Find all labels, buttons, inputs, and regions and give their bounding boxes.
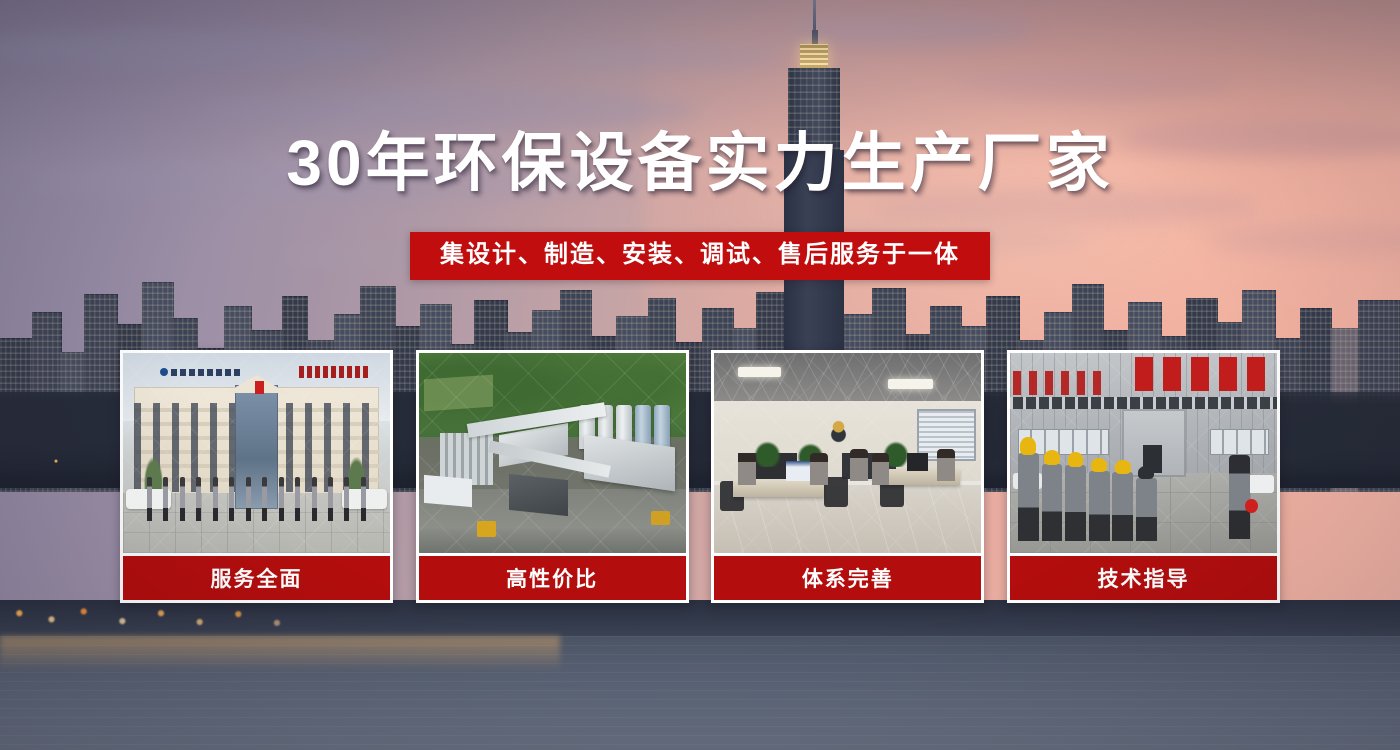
office-interior-staff-photo — [714, 353, 981, 553]
company-logo-icon — [160, 368, 168, 376]
page-title: 30年环保设备实力生产厂家 — [0, 131, 1400, 195]
feature-card[interactable]: 高性价比 — [416, 350, 689, 603]
ceiling-light — [738, 367, 781, 377]
card-caption-text: 体系完善 — [802, 563, 894, 593]
factory-workers-training-photo — [1010, 353, 1277, 553]
card-caption-text: 服务全面 — [211, 563, 303, 593]
card-caption-text: 高性价比 — [506, 563, 598, 593]
staff-lineup — [147, 477, 366, 521]
feature-card[interactable]: 技术指导 — [1007, 350, 1280, 603]
office-building-staff-photo — [123, 353, 390, 553]
flag-icon — [255, 381, 264, 394]
supervisor — [1229, 455, 1250, 539]
factory-slogan-sign — [1013, 371, 1109, 395]
river-water — [0, 636, 1400, 750]
wall-decal — [821, 415, 856, 443]
card-caption: 服务全面 — [123, 556, 390, 600]
hero-banner: 30年环保设备实力生产厂家 集设计、制造、安装、调试、售后服务于一体 — [0, 0, 1400, 750]
cloud — [560, 45, 784, 68]
card-caption-text: 技术指导 — [1097, 563, 1189, 593]
factory-banner-sign — [1135, 357, 1274, 391]
feature-card[interactable]: 服务全面 — [120, 350, 393, 603]
feature-card-row: 服务全面 — [120, 350, 1280, 603]
laptop-screen — [786, 461, 810, 481]
cloud — [952, 68, 1232, 98]
cloud — [0, 30, 392, 68]
worker-lineup — [1018, 453, 1157, 541]
feature-card[interactable]: 体系完善 — [711, 350, 984, 603]
aerial-industrial-plant-photo — [419, 353, 686, 553]
building-sign — [160, 366, 240, 378]
card-caption: 高性价比 — [419, 556, 686, 600]
subtitle-banner: 集设计、制造、安装、调试、售后服务于一体 — [410, 232, 990, 280]
subtitle-text: 集设计、制造、安装、调试、售后服务于一体 — [440, 241, 960, 269]
cloud — [196, 90, 700, 131]
phone-number-sign — [299, 366, 368, 378]
ceiling-light — [888, 379, 933, 389]
monitor-screen — [907, 453, 928, 471]
card-caption: 技术指导 — [1010, 556, 1277, 600]
card-caption: 体系完善 — [714, 556, 981, 600]
